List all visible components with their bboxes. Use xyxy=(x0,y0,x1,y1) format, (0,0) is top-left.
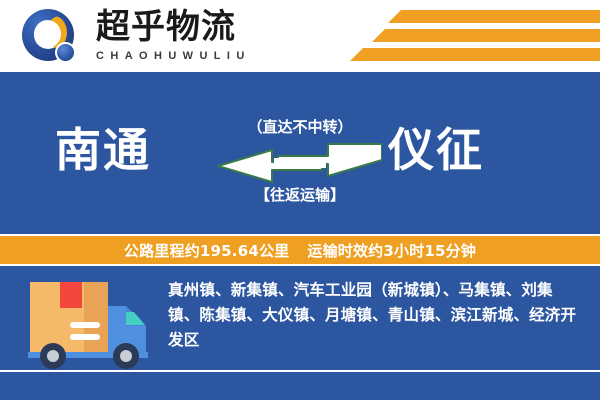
coverage-area-list: 真州镇、新集镇、汽车工业园（新城镇）、马集镇、刘集镇、陈集镇、大仪镇、月塘镇、青… xyxy=(168,278,580,353)
double-arrow-icon xyxy=(218,142,382,184)
origin-city: 南通 xyxy=(55,122,151,178)
chaohu-circle-logo-icon xyxy=(22,9,78,65)
banner-header: 超乎物流 CHAOHUWULIU xyxy=(0,0,600,72)
bottom-divider xyxy=(0,370,600,372)
coverage-section: 真州镇、新集镇、汽车工业园（新城镇）、马集镇、刘集镇、陈集镇、大仪镇、月塘镇、青… xyxy=(0,266,600,400)
distance-text: 公路里程约195.64公里 xyxy=(124,240,289,261)
destination-city: 仪征 xyxy=(388,122,484,178)
stripe-3 xyxy=(350,48,600,61)
logo-crescent-mask xyxy=(34,20,61,48)
route-section: （直达不中转） 南通 仪征 【往返运输】 xyxy=(0,72,600,232)
stripe-1 xyxy=(388,10,600,23)
roundtrip-note: 【往返运输】 xyxy=(0,184,600,205)
duration-text: 运输时效约3小时15分钟 xyxy=(307,240,476,261)
delivery-truck-icon xyxy=(22,278,160,370)
brand-name-en: CHAOHUWULIU xyxy=(96,49,251,63)
brand-block: 超乎物流 CHAOHUWULIU xyxy=(96,8,251,63)
stripe-2 xyxy=(372,29,600,42)
logistics-route-banner: 超乎物流 CHAOHUWULIU （直达不中转） 南通 仪征 【往返运输】 公路… xyxy=(0,0,600,400)
route-info-bar: 公路里程约195.64公里 运输时效约3小时15分钟 xyxy=(0,234,600,266)
brand-name-cn: 超乎物流 xyxy=(96,8,251,46)
decorative-stripes xyxy=(300,10,600,68)
logo-accent-dot xyxy=(55,42,76,63)
